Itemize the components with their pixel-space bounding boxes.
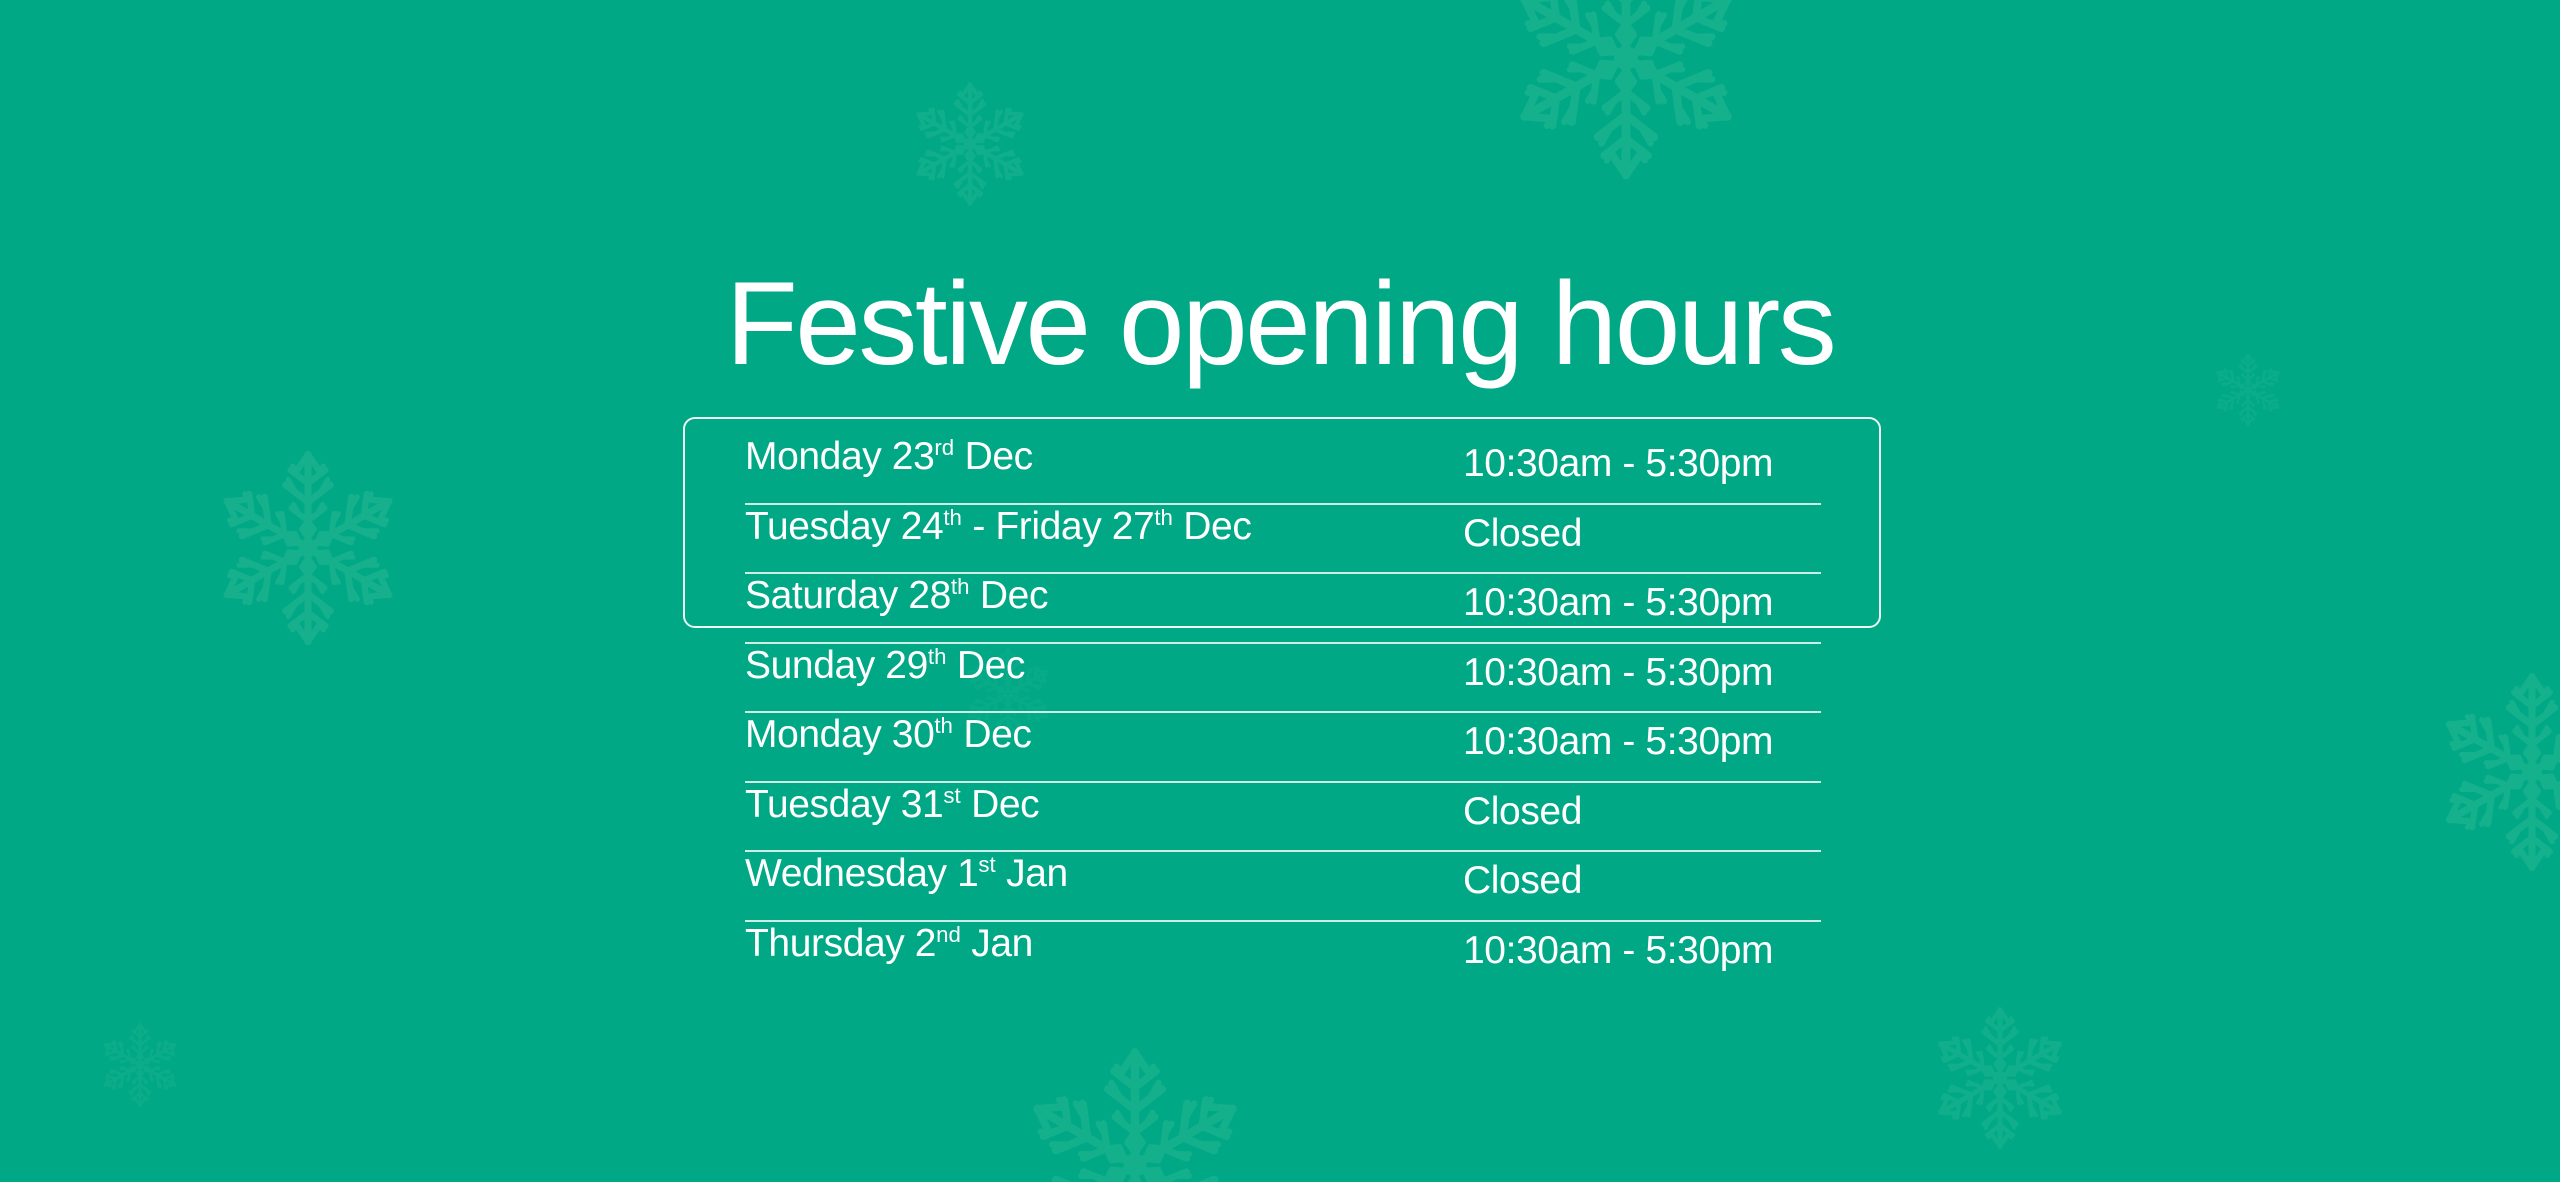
opening-hours-table: Monday 23rd Dec10:30am - 5:30pmTuesday 2… — [683, 417, 1881, 628]
snowflake-icon — [904, 78, 1036, 210]
snowflake-icon — [2426, 666, 2560, 878]
opening-hours-row: Saturday 28th Dec10:30am - 5:30pm — [745, 574, 1821, 644]
ordinal-suffix: rd — [934, 435, 954, 460]
opening-hours-row: Sunday 29th Dec10:30am - 5:30pm — [745, 644, 1821, 714]
opening-hours-time: Closed — [1463, 505, 1582, 553]
ordinal-suffix: th — [943, 505, 962, 530]
opening-hours-row: Thursday 2nd Jan10:30am - 5:30pm — [745, 922, 1821, 992]
ordinal-suffix: th — [928, 644, 947, 669]
opening-hours-row: Monday 23rd Dec10:30am - 5:30pm — [745, 435, 1821, 505]
snowflake-icon — [1496, 0, 1756, 188]
opening-hours-time: 10:30am - 5:30pm — [1463, 713, 1773, 761]
festive-opening-hours-poster: Festive opening hours Monday 23rd Dec10:… — [0, 0, 2560, 1182]
page-title: Festive opening hours — [0, 265, 2560, 383]
opening-hours-day: Wednesday 1st Jan — [745, 852, 1463, 893]
opening-hours-time: 10:30am - 5:30pm — [1463, 574, 1773, 622]
opening-hours-row: Wednesday 1st JanClosed — [745, 852, 1821, 922]
snowflake-icon — [95, 1020, 185, 1110]
opening-hours-row: Monday 30th Dec10:30am - 5:30pm — [745, 713, 1821, 783]
ordinal-suffix: th — [1154, 505, 1173, 530]
opening-hours-row: Tuesday 31st DecClosed — [745, 783, 1821, 853]
ordinal-suffix: nd — [936, 922, 961, 947]
ordinal-suffix: st — [978, 852, 995, 877]
opening-hours-day: Monday 23rd Dec — [745, 435, 1463, 476]
opening-hours-day: Saturday 28th Dec — [745, 574, 1463, 615]
ordinal-suffix: st — [943, 783, 960, 808]
opening-hours-time: Closed — [1463, 783, 1582, 831]
opening-hours-time: Closed — [1463, 852, 1582, 900]
snowflake-icon — [204, 444, 412, 652]
opening-hours-time: 10:30am - 5:30pm — [1463, 644, 1773, 692]
opening-hours-time: 10:30am - 5:30pm — [1463, 435, 1773, 483]
opening-hours-day: Tuesday 24th - Friday 27th Dec — [745, 505, 1463, 546]
opening-hours-day: Tuesday 31st Dec — [745, 783, 1463, 824]
opening-hours-day: Sunday 29th Dec — [745, 644, 1463, 685]
opening-hours-row: Tuesday 24th - Friday 27th DecClosed — [745, 505, 1821, 575]
snowflake-icon — [1010, 1040, 1260, 1182]
ordinal-suffix: th — [934, 713, 953, 738]
ordinal-suffix: th — [951, 574, 970, 599]
opening-hours-time: 10:30am - 5:30pm — [1463, 922, 1773, 970]
opening-hours-day: Thursday 2nd Jan — [745, 922, 1463, 963]
opening-hours-day: Monday 30th Dec — [745, 713, 1463, 754]
snowflake-icon — [1924, 1002, 2076, 1154]
